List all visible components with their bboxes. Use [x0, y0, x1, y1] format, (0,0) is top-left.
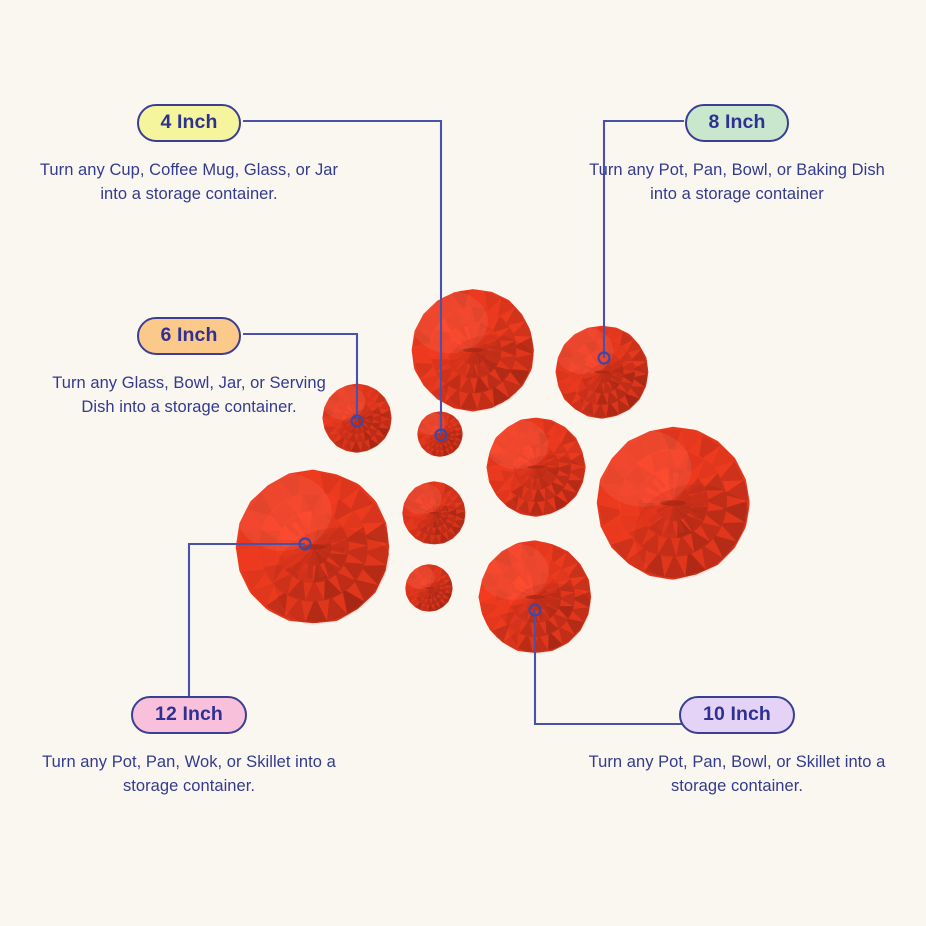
- callout-12-inch: 12 Inch Turn any Pot, Pan, Wok, or Skill…: [39, 696, 339, 798]
- size-pill-12-inch[interactable]: 12 Inch: [131, 696, 247, 734]
- size-pill-8-inch[interactable]: 8 Inch: [685, 104, 790, 142]
- silicone-lid: [417, 411, 463, 457]
- callout-8-inch: 8 Inch Turn any Pot, Pan, Bowl, or Bakin…: [587, 104, 887, 206]
- silicone-lid: [486, 417, 586, 517]
- silicone-lid: [235, 469, 391, 625]
- callout-description-4-inch: Turn any Cup, Coffee Mug, Glass, or Jar …: [39, 159, 339, 206]
- silicone-lid: [411, 288, 535, 412]
- silicone-lid: [402, 481, 466, 545]
- callout-description-8-inch: Turn any Pot, Pan, Bowl, or Baking Dish …: [587, 159, 887, 206]
- callout-description-10-inch: Turn any Pot, Pan, Bowl, or Skillet into…: [587, 751, 887, 798]
- silicone-lid: [405, 564, 453, 612]
- silicone-lid-size-infographic: 4 Inch Turn any Cup, Coffee Mug, Glass, …: [0, 0, 926, 926]
- callout-6-inch: 6 Inch Turn any Glass, Bowl, Jar, or Ser…: [39, 317, 339, 419]
- silicone-lid: [555, 325, 649, 419]
- size-pill-4-inch[interactable]: 4 Inch: [137, 104, 242, 142]
- size-pill-6-inch[interactable]: 6 Inch: [137, 317, 242, 355]
- callout-4-inch: 4 Inch Turn any Cup, Coffee Mug, Glass, …: [39, 104, 339, 206]
- size-pill-10-inch[interactable]: 10 Inch: [679, 696, 795, 734]
- callout-description-6-inch: Turn any Glass, Bowl, Jar, or Serving Di…: [39, 372, 339, 419]
- silicone-lid: [478, 540, 592, 654]
- callout-10-inch: 10 Inch Turn any Pot, Pan, Bowl, or Skil…: [587, 696, 887, 798]
- silicone-lid: [596, 426, 750, 580]
- callout-description-12-inch: Turn any Pot, Pan, Wok, or Skillet into …: [39, 751, 339, 798]
